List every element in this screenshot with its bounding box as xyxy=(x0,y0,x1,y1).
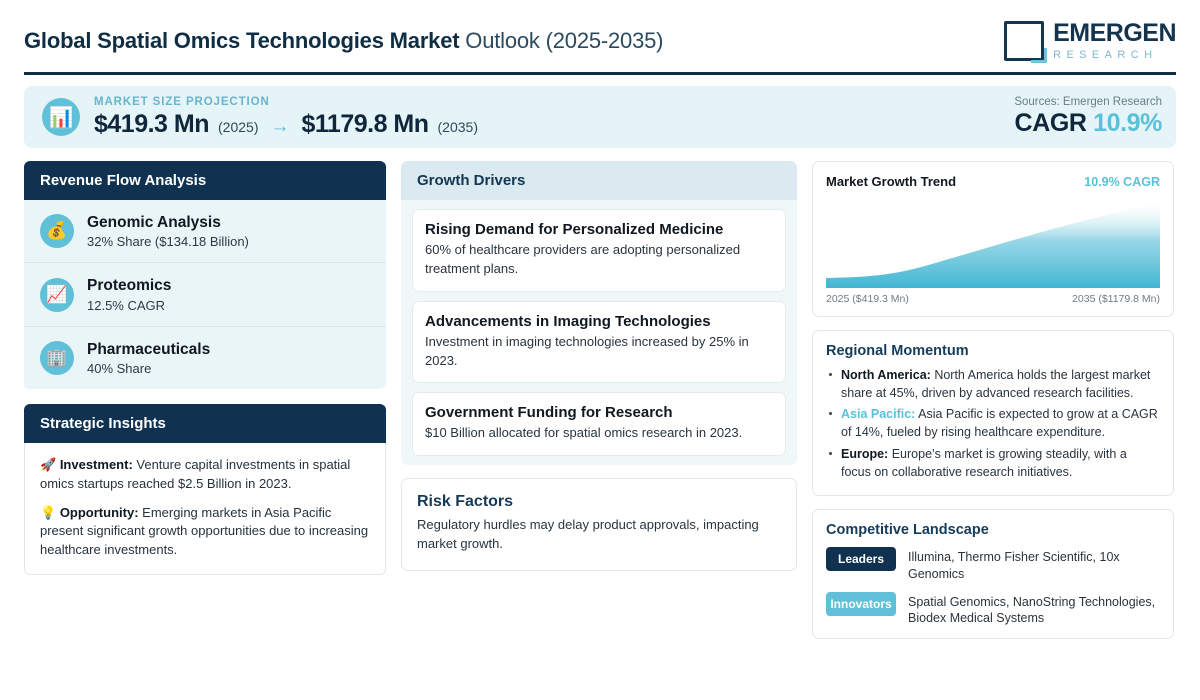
page-title-strong: Global Spatial Omics Technologies Market xyxy=(24,28,459,53)
driver-title: Government Funding for Research xyxy=(425,404,773,421)
revenue-flow-title: Revenue Flow Analysis xyxy=(24,161,386,200)
regional-momentum-title: Regional Momentum xyxy=(826,343,1160,359)
right-column: Market Growth Trend 10.9% CAGR xyxy=(812,161,1174,639)
list-item-name: Genomic Analysis xyxy=(87,213,249,232)
base-market-year: (2025) xyxy=(218,119,258,135)
insight-label: Opportunity: xyxy=(60,505,139,520)
insight-label: Investment: xyxy=(60,457,133,472)
page-header: Global Spatial Omics Technologies Market… xyxy=(24,18,1176,64)
cagr-display: CAGR 10.9% xyxy=(1014,109,1162,138)
driver-desc: Investment in imaging technologies incre… xyxy=(425,333,773,371)
sources-text: Sources: Emergen Research xyxy=(1014,96,1162,108)
driver-card[interactable]: Advancements in Imaging Technologies Inv… xyxy=(412,301,786,384)
innovators-companies: Spatial Genomics, NanoString Technologie… xyxy=(908,592,1160,628)
forecast-market-value: $1179.8 Mn xyxy=(301,110,428,139)
axis-label-end: 2035 ($1179.8 Mn) xyxy=(1072,293,1160,305)
table-row: Leaders Illumina, Thermo Fisher Scientif… xyxy=(826,547,1160,583)
driver-card[interactable]: Government Funding for Research $10 Bill… xyxy=(412,392,786,456)
regional-momentum-card: Regional Momentum North America: North A… xyxy=(812,330,1174,496)
list-item: Asia Pacific: Asia Pacific is expected t… xyxy=(826,405,1160,441)
growth-drivers-panel: Growth Drivers Rising Demand for Persona… xyxy=(401,161,797,465)
banner-left-group: 📊 MARKET SIZE PROJECTION $419.3 Mn (2025… xyxy=(42,96,478,139)
risk-factors-title: Risk Factors xyxy=(417,493,781,511)
money-bag-icon: 💰 xyxy=(40,214,74,248)
header-divider xyxy=(24,72,1176,75)
strategic-insights-panel: Strategic Insights 🚀 Investment: Venture… xyxy=(24,404,386,575)
list-item-detail: 40% Share xyxy=(87,361,210,376)
market-growth-trend-card: Market Growth Trend 10.9% CAGR xyxy=(812,161,1174,317)
revenue-flow-list: 💰 Genomic Analysis 32% Share ($134.18 Bi… xyxy=(24,200,386,389)
logo-square-icon xyxy=(1004,21,1044,61)
rocket-icon: 🚀 xyxy=(40,457,56,472)
driver-desc: 60% of healthcare providers are adopting… xyxy=(425,241,773,279)
axis-label-start: 2025 ($419.3 Mn) xyxy=(826,293,909,305)
driver-title: Advancements in Imaging Technologies xyxy=(425,313,773,330)
left-column: Revenue Flow Analysis 💰 Genomic Analysis… xyxy=(24,161,386,575)
region-name: Asia Pacific: xyxy=(841,407,915,421)
list-item[interactable]: 📈 Proteomics 12.5% CAGR xyxy=(24,262,386,325)
list-item[interactable]: 💰 Genomic Analysis 32% Share ($134.18 Bi… xyxy=(24,200,386,262)
office-building-icon: 🏢 xyxy=(40,341,74,375)
list-item-text: Proteomics 12.5% CAGR xyxy=(87,276,171,312)
region-list: North America: North America holds the l… xyxy=(826,366,1160,481)
report-page: Global Spatial Omics Technologies Market… xyxy=(0,0,1200,700)
page-title: Global Spatial Omics Technologies Market… xyxy=(24,28,663,54)
banner-kicker: MARKET SIZE PROJECTION xyxy=(94,96,478,108)
bar-chart-icon: 📊 xyxy=(42,98,80,136)
driver-title: Rising Demand for Personalized Medicine xyxy=(425,221,773,238)
insight-item: 💡 Opportunity: Emerging markets in Asia … xyxy=(40,504,370,559)
logo-subtitle: RESEARCH xyxy=(1053,50,1176,61)
risk-factors-card: Risk Factors Regulatory hurdles may dela… xyxy=(401,478,797,571)
risk-factors-desc: Regulatory hurdles may delay product app… xyxy=(417,516,781,554)
list-item: North America: North America holds the l… xyxy=(826,366,1160,402)
area-chart xyxy=(826,198,1160,288)
list-item-name: Pharmaceuticals xyxy=(87,340,210,359)
trend-title: Market Growth Trend xyxy=(826,174,956,189)
region-name: Europe: xyxy=(841,447,888,461)
page-title-light: Outlook (2025-2035) xyxy=(465,28,663,53)
cagr-value: 10.9% xyxy=(1093,109,1162,137)
competitive-landscape-title: Competitive Landscape xyxy=(826,522,1160,538)
arrow-right-icon: → xyxy=(267,116,292,138)
banner-right-group: Sources: Emergen Research CAGR 10.9% xyxy=(1014,96,1162,138)
logo-wordmark: EMERGEN RESEARCH xyxy=(1053,21,1176,61)
list-item-text: Genomic Analysis 32% Share ($134.18 Bill… xyxy=(87,213,249,249)
content-grid: Revenue Flow Analysis 💰 Genomic Analysis… xyxy=(24,161,1176,639)
region-name: North America: xyxy=(841,368,931,382)
trend-header: Market Growth Trend 10.9% CAGR xyxy=(826,174,1160,189)
emergen-research-logo: EMERGEN RESEARCH xyxy=(1004,21,1176,61)
list-item-text: Pharmaceuticals 40% Share xyxy=(87,340,210,376)
trend-axis-labels: 2025 ($419.3 Mn) 2035 ($1179.8 Mn) xyxy=(826,293,1160,305)
strategic-insights-title: Strategic Insights xyxy=(24,404,386,443)
driver-desc: $10 Billion allocated for spatial omics … xyxy=(425,424,773,443)
strategic-insights-body: 🚀 Investment: Venture capital investment… xyxy=(24,443,386,575)
leaders-companies: Illumina, Thermo Fisher Scientific, 10x … xyxy=(908,547,1160,583)
status-badge-innovators: Innovators xyxy=(826,592,896,616)
base-market-value: $419.3 Mn xyxy=(94,110,209,139)
table-row: Innovators Spatial Genomics, NanoString … xyxy=(826,592,1160,628)
banner-text-group: MARKET SIZE PROJECTION $419.3 Mn (2025) … xyxy=(94,96,478,139)
competitive-landscape-card: Competitive Landscape Leaders Illumina, … xyxy=(812,509,1174,640)
list-item[interactable]: 🏢 Pharmaceuticals 40% Share xyxy=(24,326,386,389)
trend-cagr-badge: 10.9% CAGR xyxy=(1084,175,1160,189)
banner-figures: $419.3 Mn (2025) → $1179.8 Mn (2035) xyxy=(94,110,478,139)
chart-increasing-icon: 📈 xyxy=(40,278,74,312)
market-size-banner: 📊 MARKET SIZE PROJECTION $419.3 Mn (2025… xyxy=(24,86,1176,148)
driver-card[interactable]: Rising Demand for Personalized Medicine … xyxy=(412,209,786,292)
forecast-market-year: (2035) xyxy=(438,119,478,135)
insight-item: 🚀 Investment: Venture capital investment… xyxy=(40,456,370,493)
area-series-path xyxy=(826,202,1160,288)
cagr-label: CAGR xyxy=(1015,109,1087,137)
list-item-detail: 32% Share ($134.18 Billion) xyxy=(87,234,249,249)
growth-drivers-title: Growth Drivers xyxy=(401,161,797,200)
middle-column: Growth Drivers Rising Demand for Persona… xyxy=(401,161,797,571)
list-item-name: Proteomics xyxy=(87,276,171,295)
revenue-flow-panel: Revenue Flow Analysis 💰 Genomic Analysis… xyxy=(24,161,386,389)
status-badge-leaders: Leaders xyxy=(826,547,896,571)
list-item: Europe: Europe’s market is growing stead… xyxy=(826,445,1160,481)
logo-name: EMERGEN xyxy=(1053,21,1176,46)
lightbulb-icon: 💡 xyxy=(40,505,56,520)
list-item-detail: 12.5% CAGR xyxy=(87,298,171,313)
